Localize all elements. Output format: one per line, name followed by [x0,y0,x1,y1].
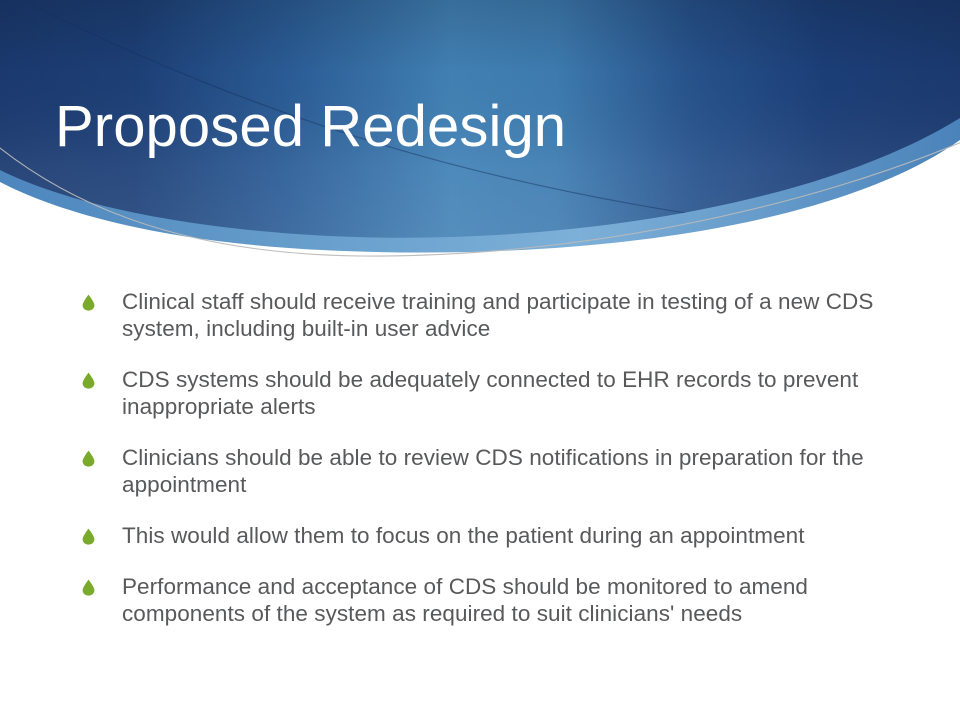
list-item: Clinical staff should receive training a… [82,288,912,342]
teardrop-bullet-icon [82,573,122,596]
teardrop-bullet-icon [82,444,122,467]
list-item: Performance and acceptance of CDS should… [82,573,912,627]
list-item-text: Clinicians should be able to review CDS … [122,444,912,498]
teardrop-bullet-icon [82,522,122,545]
list-item-text: Performance and acceptance of CDS should… [122,573,912,627]
list-item-text: CDS systems should be adequately connect… [122,366,912,420]
slide-title: Proposed Redesign [55,95,875,159]
list-item: This would allow them to focus on the pa… [82,522,912,549]
list-item-text: This would allow them to focus on the pa… [122,522,912,549]
list-item: Clinicians should be able to review CDS … [82,444,912,498]
teardrop-bullet-icon [82,288,122,311]
list-item: CDS systems should be adequately connect… [82,366,912,420]
presentation-slide: Proposed Redesign Clinical staff should … [0,0,960,720]
list-item-text: Clinical staff should receive training a… [122,288,912,342]
teardrop-bullet-icon [82,366,122,389]
slide-body-bullet-list: Clinical staff should receive training a… [82,288,912,627]
